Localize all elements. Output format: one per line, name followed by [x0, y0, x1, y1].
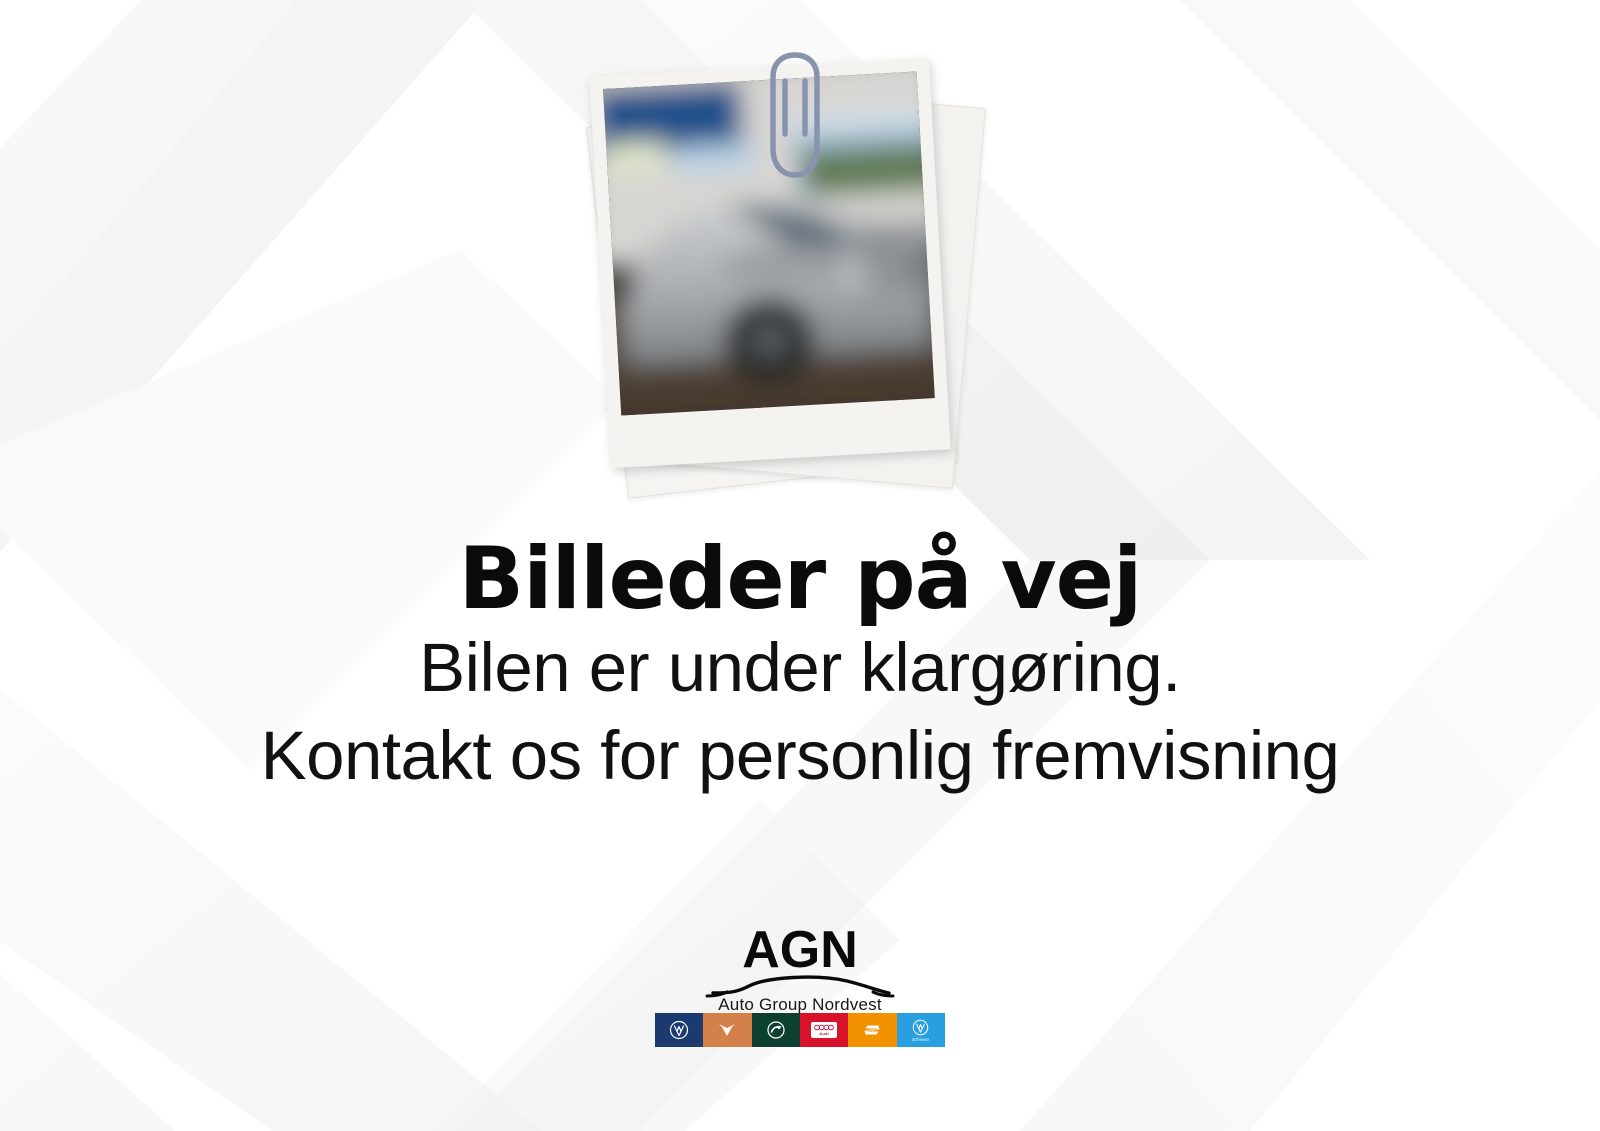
- promo-placeholder-card: Billeder på vej Bilen er under klargørin…: [0, 0, 1600, 1131]
- agn-logo: AGN Auto Group Nordvest: [650, 925, 950, 1015]
- erhverv-wordmark: Erhverv: [912, 1037, 929, 1042]
- paperclip-shape: [764, 48, 826, 183]
- message-block: Billeder på vej Bilen er under klargørin…: [0, 536, 1600, 800]
- skoda-logo-icon: [766, 1020, 786, 1040]
- seat-logo-icon: [864, 1024, 880, 1036]
- brand-tile-seat[interactable]: [848, 1013, 896, 1047]
- brand-strip: Audi Erhverv: [655, 1013, 945, 1047]
- agn-tagline: Auto Group Nordvest: [650, 995, 950, 1015]
- brand-tile-volkswagen[interactable]: [655, 1013, 703, 1047]
- vw-logo-icon: [669, 1020, 689, 1040]
- subtitle-line-2: Kontakt os for personlig fremvisning: [0, 712, 1600, 800]
- vw-erhverv-logo-icon: [912, 1019, 929, 1036]
- cupra-logo-icon: [717, 1022, 737, 1038]
- audi-badge: Audi: [811, 1022, 837, 1038]
- audi-wordmark: Audi: [819, 1032, 829, 1036]
- paperclip-icon: [764, 48, 826, 183]
- brand-tile-volkswagen-erhverv[interactable]: Erhverv: [897, 1013, 945, 1047]
- subtitle-line-1: Bilen er under klargøring.: [0, 624, 1600, 712]
- seat-badge: [864, 1024, 880, 1036]
- brand-tile-skoda[interactable]: [752, 1013, 800, 1047]
- brand-tile-cupra[interactable]: [703, 1013, 751, 1047]
- agn-wordmark: AGN: [650, 925, 950, 976]
- photo-stack: [568, 55, 988, 515]
- brand-tile-audi[interactable]: Audi: [800, 1013, 848, 1047]
- page-title: Billeder på vej: [0, 536, 1600, 624]
- audi-logo-icon: [814, 1024, 834, 1031]
- vw-erhverv-badge: Erhverv: [912, 1019, 929, 1042]
